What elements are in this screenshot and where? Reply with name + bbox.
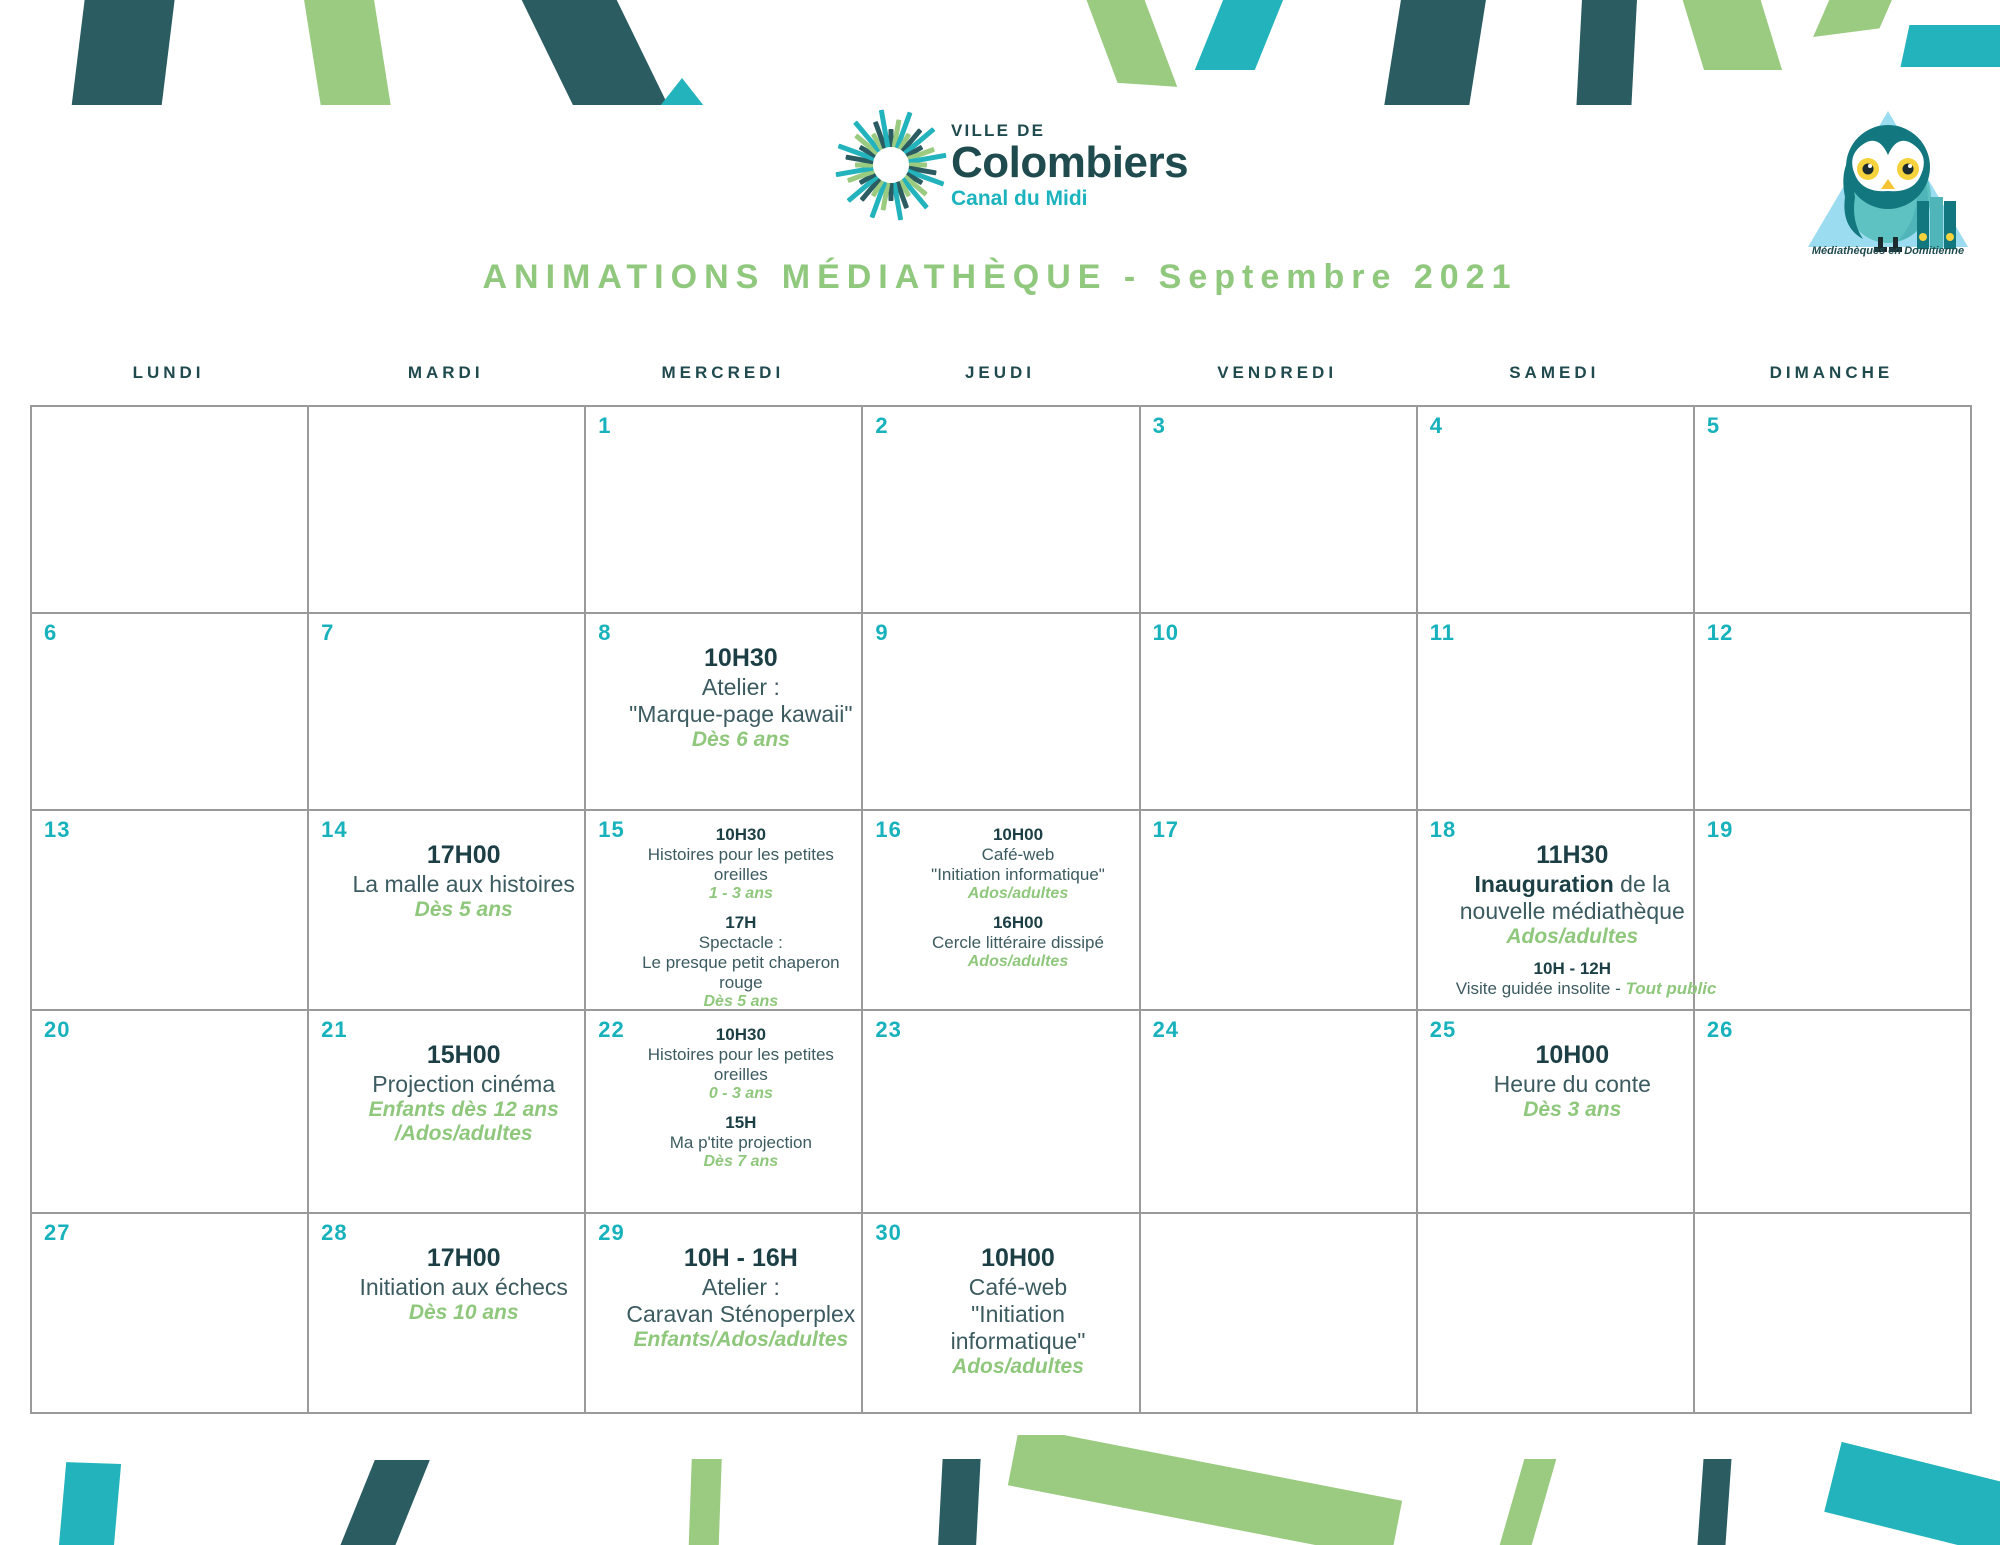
event-title: Atelier : [624,674,857,701]
event-audience: Dès 10 ans [347,1301,580,1326]
calendar-day-21[interactable]: 2115H00Projection cinémaEnfants dès 12 a… [309,1011,586,1214]
event-entry[interactable]: 10H00Café-web"Initiation informatique"Ad… [901,1244,1134,1380]
event-audience: Ados/adultes [1456,925,1689,950]
calendar-day-empty [1141,1214,1418,1414]
day-number: 12 [1707,620,1733,646]
event-audience: 1 - 3 ans [624,885,857,904]
event-audience: Ados/adultes [901,885,1134,904]
day-number: 29 [598,1220,624,1246]
calendar-day-20[interactable]: 20 [32,1011,309,1214]
event-time: 17H00 [347,1244,580,1274]
day-number: 1 [598,413,611,439]
calendar-day-5[interactable]: 5 [1695,407,1972,614]
event-entry[interactable]: 17H00Initiation aux échecsDès 10 ans [347,1244,580,1325]
event-entry[interactable]: 10H00Café-web"Initiation informatique"Ad… [901,825,1134,904]
day-number: 25 [1430,1017,1456,1043]
event-time: 15H00 [347,1041,580,1071]
calendar-day-17[interactable]: 17 [1141,811,1418,1011]
day-events: 10H30Histoires pour les petites oreilles… [590,819,857,1012]
event-entry[interactable]: 10H - 12HVisite guidée insolite - Tout p… [1456,959,1689,999]
event-subtitle: nouvelle médiathèque [1456,898,1689,925]
event-entry[interactable]: 10H30Atelier :"Marque-page kawaii"Dès 6 … [624,644,857,753]
calendar-day-23[interactable]: 23 [863,1011,1140,1214]
decor-stripe [1576,0,1638,105]
decor-stripe [335,1460,430,1545]
event-title: Cercle littéraire dissipé [901,933,1134,953]
dayname-mardi: MARDI [307,363,584,383]
day-number: 28 [321,1220,347,1246]
dayname-vendredi: VENDREDI [1139,363,1416,383]
day-number: 14 [321,817,347,843]
day-number: 3 [1153,413,1166,439]
city-logo: VILLE DE Colombiers Canal du Midi [845,115,1165,215]
day-events: 10H00Heure du conteDès 3 ans [1422,1019,1689,1122]
event-entry[interactable]: 17HSpectacle :Le presque petit chaperon … [624,913,857,1012]
event-time: 10H00 [901,825,1134,845]
calendar-day-empty [1418,1214,1695,1414]
calendar-day-14[interactable]: 1417H00La malle aux histoiresDès 5 ans [309,811,586,1011]
calendar-week-row: 202115H00Projection cinémaEnfants dès 12… [32,1011,1972,1214]
event-time: 16H00 [901,913,1134,933]
decor-stripe [1008,1435,1402,1545]
event-time: 17H00 [347,841,580,871]
day-number: 22 [598,1017,624,1043]
event-audience-cont: /Ados/adultes [347,1122,580,1147]
event-title: Histoires pour les petites oreilles [624,1045,857,1085]
dayname-mercredi: MERCREDI [584,363,861,383]
decor-stripe [1697,1459,1732,1545]
calendar-day-16[interactable]: 1610H00Café-web"Initiation informatique"… [863,811,1140,1011]
city-logo-line3: Canal du Midi [951,188,1188,209]
event-title: Initiation aux échecs [347,1274,580,1301]
calendar-day-27[interactable]: 27 [32,1214,309,1414]
decor-stripe [1195,0,1295,70]
calendar-week-row: 12345 [32,407,1972,614]
decor-stripe [1901,25,2000,67]
owl-icon [1798,105,1978,255]
calendar-week-row: 131417H00La malle aux histoiresDès 5 ans… [32,811,1972,1011]
event-audience: Dès 5 ans [624,993,857,1012]
event-audience: Ados/adultes [901,1355,1134,1380]
day-number: 15 [598,817,624,843]
event-title: Café-web [901,1274,1134,1301]
calendar-day-empty [309,407,586,614]
day-events: 17H00Initiation aux échecsDès 10 ans [313,1222,580,1325]
day-number: 23 [875,1017,901,1043]
event-title: Café-web [901,845,1134,865]
calendar-day-9[interactable]: 9 [863,614,1140,811]
day-number: 18 [1430,817,1456,843]
calendar-day-8[interactable]: 810H30Atelier :"Marque-page kawaii"Dès 6… [586,614,863,811]
event-time: 10H30 [624,644,857,674]
calendar-day-12[interactable]: 12 [1695,614,1972,811]
event-title: Histoires pour les petites oreilles [624,845,857,885]
decor-stripe [1071,0,1177,87]
bottom-decorative-band [0,1435,2000,1545]
decor-stripe [1496,1459,1557,1545]
day-events: 10H30Atelier :"Marque-page kawaii"Dès 6 … [590,622,857,753]
event-entry[interactable]: 15H00Projection cinémaEnfants dès 12 ans… [347,1041,580,1147]
event-entry[interactable]: 15HMa p'tite projectionDès 7 ans [624,1113,857,1172]
decor-stripe [937,1459,980,1545]
event-time: 17H [624,913,857,933]
calendar-day-1[interactable]: 1 [586,407,863,614]
day-number: 11 [1430,620,1455,646]
event-time: 10H30 [624,1025,857,1045]
decor-stripe [58,1462,121,1545]
calendar-day-empty [32,407,309,614]
decor-stripe [1813,0,1909,37]
calendar-daynames-row: LUNDIMARDIMERCREDIJEUDIVENDREDISAMEDIDIM… [30,363,1970,383]
day-number: 17 [1153,817,1179,843]
top-decorative-band [0,0,2000,105]
day-number: 19 [1707,817,1733,843]
calendar-day-13[interactable]: 13 [32,811,309,1011]
dayname-dimanche: DIMANCHE [1693,363,1970,383]
event-entry[interactable]: 10H - 16HAtelier :Caravan SténoperplexEn… [624,1244,857,1353]
calendar-week-row: 67810H30Atelier :"Marque-page kawaii"Dès… [32,614,1972,811]
decor-stripe [688,1459,721,1545]
calendar-day-26[interactable]: 26 [1695,1011,1972,1214]
event-audience: Dès 6 ans [624,728,857,753]
day-number: 7 [321,620,334,646]
calendar-day-11[interactable]: 11 [1418,614,1695,811]
event-entry[interactable]: 10H30Histoires pour les petites oreilles… [624,825,857,904]
event-entry[interactable]: 10H00Heure du conteDès 3 ans [1456,1041,1689,1122]
day-number: 20 [44,1017,70,1043]
decor-triangle [660,78,704,105]
day-events: 17H00La malle aux histoiresDès 5 ans [313,819,580,922]
event-audience: Dès 5 ans [347,898,580,923]
day-events: 10H00Café-web"Initiation informatique"Ad… [867,1222,1134,1380]
event-time: 10H - 12H [1456,959,1689,979]
day-events: 10H00Café-web"Initiation informatique"Ad… [867,819,1134,972]
calendar-day-7[interactable]: 7 [309,614,586,811]
day-number: 6 [44,620,57,646]
calendar-day-28[interactable]: 2817H00Initiation aux échecsDès 10 ans [309,1214,586,1414]
decor-stripe [72,0,179,105]
calendar-day-22[interactable]: 2210H30Histoires pour les petites oreill… [586,1011,863,1214]
event-entry[interactable]: 11H30Inauguration de lanouvelle médiathè… [1456,841,1689,950]
event-audience: 0 - 3 ans [624,1085,857,1104]
day-number: 4 [1430,413,1443,439]
decor-stripe [507,0,668,105]
event-title: La malle aux histoires [347,871,580,898]
partner-logo: Médiathèques en Domitienne [1798,105,1978,275]
event-subtitle: "Marque-page kawaii" [624,701,857,728]
radial-burst-icon [845,119,937,211]
day-events: 15H00Projection cinémaEnfants dès 12 ans… [313,1019,580,1147]
day-number: 8 [598,620,611,646]
event-subtitle: Le presque petit chaperon rouge [624,953,857,993]
calendar-day-3[interactable]: 3 [1141,407,1418,614]
day-number: 2 [875,413,888,439]
calendar-day-6[interactable]: 6 [32,614,309,811]
calendar-day-empty [1695,1214,1972,1414]
event-audience: Ados/adultes [901,953,1134,972]
calendar-week-row: 272817H00Initiation aux échecsDès 10 ans… [32,1214,1972,1414]
event-audience: Enfants dès 12 ans [347,1098,580,1123]
calendar-grid: 1234567810H30Atelier :"Marque-page kawai… [30,405,1972,1414]
event-title: Projection cinéma [347,1071,580,1098]
decor-stripe [1824,1442,2000,1545]
page-title: ANIMATIONS MÉDIATHÈQUE - Septembre 2021 [0,258,2000,297]
decor-stripe [299,0,390,105]
calendar-day-19[interactable]: 19 [1695,811,1972,1011]
day-number: 30 [875,1220,901,1246]
dayname-lundi: LUNDI [30,363,307,383]
event-title: Ma p'tite projection [624,1133,857,1153]
decor-stripe [1384,0,1490,105]
day-number: 13 [44,817,70,843]
day-number: 10 [1153,620,1179,646]
city-logo-line1: VILLE DE [951,122,1188,139]
event-subtitle: Caravan Sténoperplex [624,1301,857,1328]
dayname-jeudi: JEUDI [861,363,1138,383]
event-subtitle: "Initiation informatique" [901,1301,1134,1355]
event-time: 10H00 [1456,1041,1689,1071]
event-audience: Dès 7 ans [624,1153,857,1172]
day-number: 5 [1707,413,1720,439]
event-title: Visite guidée insolite - Tout public [1456,979,1689,999]
event-title: Atelier : [624,1274,857,1301]
calendar-day-18[interactable]: 1811H30Inauguration de lanouvelle médiat… [1418,811,1695,1011]
day-events: 11H30Inauguration de lanouvelle médiathè… [1422,819,1689,999]
day-events: 10H30Histoires pour les petites oreilles… [590,1019,857,1172]
calendar-day-15[interactable]: 1510H30Histoires pour les petites oreill… [586,811,863,1011]
event-time: 15H [624,1113,857,1133]
day-number: 24 [1153,1017,1179,1043]
calendar-day-30[interactable]: 3010H00Café-web"Initiation informatique"… [863,1214,1140,1414]
day-number: 16 [875,817,901,843]
city-logo-line2: Colombiers [951,141,1188,185]
day-number: 9 [875,620,888,646]
day-number: 26 [1707,1017,1733,1043]
event-time: 11H30 [1456,841,1689,871]
calendar-day-29[interactable]: 2910H - 16HAtelier :Caravan Sténoperplex… [586,1214,863,1414]
event-time: 10H30 [624,825,857,845]
event-audience: Dès 3 ans [1456,1098,1689,1123]
calendar-day-4[interactable]: 4 [1418,407,1695,614]
event-entry[interactable]: 17H00La malle aux histoiresDès 5 ans [347,841,580,922]
city-logo-wordmark: VILLE DE Colombiers Canal du Midi [951,122,1188,209]
event-title: Inauguration de la [1456,871,1689,898]
partner-logo-caption: Médiathèques en Domitienne [1798,245,1978,257]
event-title: Spectacle : [624,933,857,953]
event-audience: Enfants/Ados/adultes [624,1328,857,1353]
dayname-samedi: SAMEDI [1416,363,1693,383]
event-time: 10H - 16H [624,1244,857,1274]
calendar-day-24[interactable]: 24 [1141,1011,1418,1214]
calendar-day-2[interactable]: 2 [863,407,1140,614]
event-entry[interactable]: 10H30Histoires pour les petites oreilles… [624,1025,857,1104]
day-events: 10H - 16HAtelier :Caravan SténoperplexEn… [590,1222,857,1353]
decor-stripe [1672,0,1782,70]
event-subtitle: "Initiation informatique" [901,865,1134,885]
day-number: 21 [321,1017,347,1043]
day-number: 27 [44,1220,70,1246]
calendar-day-10[interactable]: 10 [1141,614,1418,811]
calendar-day-25[interactable]: 2510H00Heure du conteDès 3 ans [1418,1011,1695,1214]
event-entry[interactable]: 16H00Cercle littéraire dissipéAdos/adult… [901,913,1134,972]
event-title: Heure du conte [1456,1071,1689,1098]
event-time: 10H00 [901,1244,1134,1274]
